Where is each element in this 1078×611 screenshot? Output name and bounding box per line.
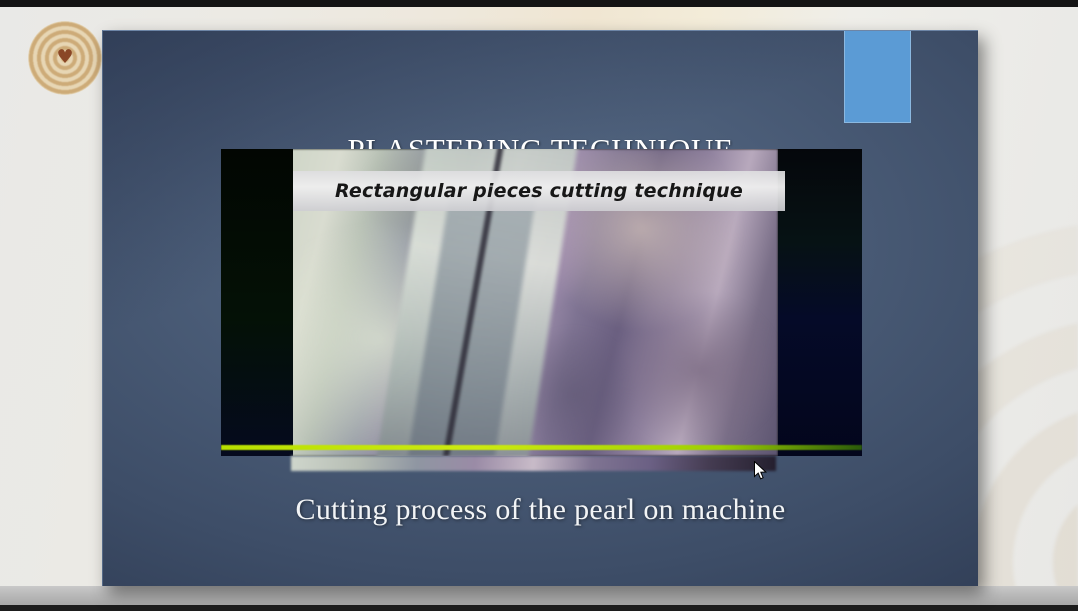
slide-caption: Cutting process of the pearl on machine <box>103 493 978 527</box>
embedded-video-frame[interactable]: Rectangular pieces cutting technique <box>221 149 862 456</box>
page-bottom-bar <box>0 605 1078 611</box>
heart-icon: ♥ <box>56 49 75 66</box>
video-overlay-caption-band: Rectangular pieces cutting technique <box>293 171 785 211</box>
video-overlay-caption-text: Rectangular pieces cutting technique <box>335 180 743 202</box>
page-bottom-band <box>0 586 1078 605</box>
video-tear-strip <box>291 456 776 471</box>
video-scanline <box>221 445 862 450</box>
slide-accent-block <box>844 31 911 123</box>
brand-logo-icon: ♥ <box>28 21 102 95</box>
page-top-bar <box>0 0 1078 7</box>
video-letterbox-left <box>221 149 293 456</box>
presentation-slide[interactable]: PLASTERING TECHNIQUE Rectangular pieces … <box>102 30 978 586</box>
video-letterbox-right <box>778 149 862 456</box>
